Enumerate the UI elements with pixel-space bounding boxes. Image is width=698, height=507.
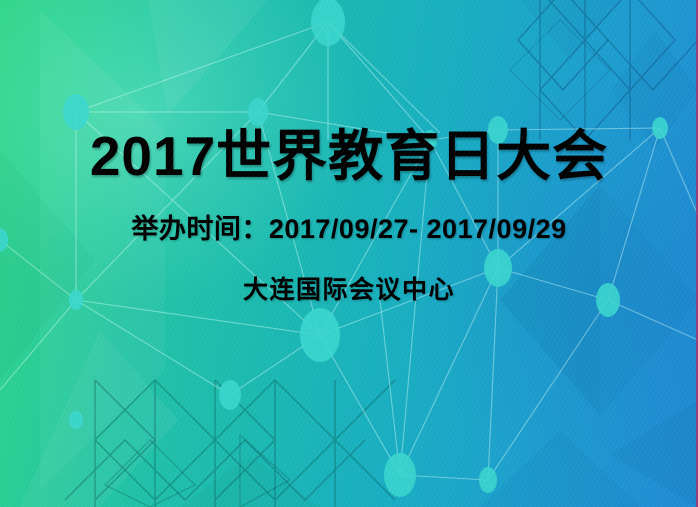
conference-banner: 2017世界教育日大会 举办时间：2017/09/27- 2017/09/29 … <box>0 0 698 507</box>
banner-text-block: 2017世界教育日大会 举办时间：2017/09/27- 2017/09/29 … <box>0 0 698 306</box>
event-venue-line: 大连国际会议中心 <box>0 270 698 306</box>
page-title: 2017世界教育日大会 <box>0 128 698 186</box>
event-date-line: 举办时间：2017/09/27- 2017/09/29 <box>0 207 698 246</box>
